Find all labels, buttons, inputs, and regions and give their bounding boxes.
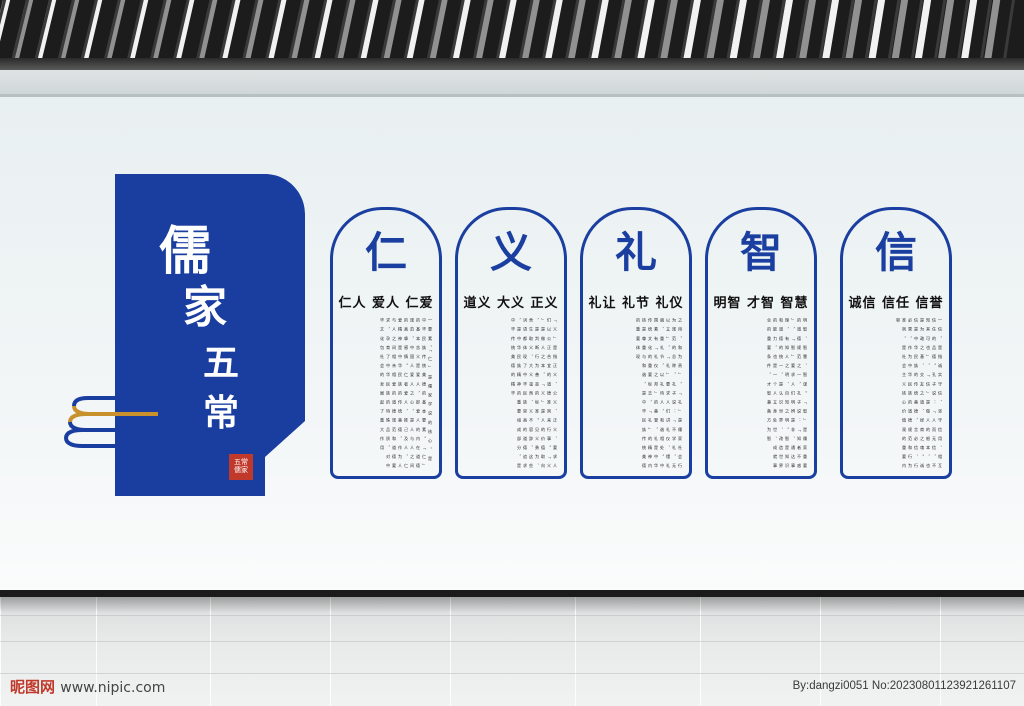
main-title-char-3: 五 [203, 346, 239, 382]
card-title-li: 礼 [583, 232, 689, 274]
nipic-logo-cn: 昵图网 [10, 678, 55, 696]
seal-stamp: 五常儒家 [229, 454, 253, 480]
card-subtitle-zhi: 明智 才智 智慧 [708, 292, 814, 311]
ceiling [0, 0, 1024, 58]
card-body-yi: 「 义 」 是 指 正 义 、 公 义 、 正 义 、 要 求 人 们 以 公 … [464, 318, 558, 468]
nipic-watermark: 昵图网 www.nipic.com [10, 676, 165, 697]
card-subtitle-yi: 道义 大义 正义 [458, 292, 564, 311]
soffit [0, 70, 1024, 96]
card-body-xin: 一 信 ， 是 指 诚 实 守 信 、 坚 守 信 用 、 相 互 信 任 的 … [849, 318, 943, 468]
card-subtitle-ren: 仁人 爱人 仁爱 [333, 292, 439, 311]
card-zhi[interactable]: 智 明智 才智 智慧 明 智 、 智 慧 、 智 谋 。 「 智 」 是 儒 家… [705, 207, 817, 479]
books-icon [62, 396, 172, 458]
card-title-zhi: 智 [708, 232, 814, 274]
card-subtitle-xin: 诚信 信任 信誉 [843, 292, 949, 311]
card-title-xin: 信 [843, 232, 949, 274]
main-title-char-2: 家 [183, 286, 227, 330]
asset-code: By:dangzi0051 No:20230801123921261107 [793, 680, 1016, 692]
main-title-char-1: 儒 [159, 226, 213, 278]
card-li[interactable]: 礼 礼让 礼节 礼仪 之 用 ， 和 为 贵 」 ， 「 礼 」 是 儒 家 社… [580, 207, 692, 479]
floor-shadow [0, 597, 1024, 613]
card-title-yi: 义 [458, 232, 564, 274]
nipic-logo-url: www.nipic.com [60, 680, 165, 696]
card-body-li: 之 用 ， 和 为 贵 」 ， 「 礼 」 是 儒 家 社 会 行 为 规 范 … [589, 318, 683, 468]
main-title-char-4: 常 [203, 396, 239, 432]
card-body-ren: 一 要 素 ，「 仁 」 是 儒 家 学 说 的 核 心 ， 是 中 华 民 族… [339, 318, 433, 468]
card-title-ren: 仁 [333, 232, 439, 274]
card-xin[interactable]: 信 诚信 信任 信誉 一 信 ， 是 指 诚 实 守 信 、 坚 守 信 用 、… [840, 207, 952, 479]
poster-scene: 儒 家 五 常 五常儒家 仁 仁人 爱人 仁爱 一 要 素 ，「 仁 」 是 儒… [0, 0, 1024, 706]
card-body-zhi: 明 智 、 智 慧 、 智 谋 。 「 智 」 是 儒 家 重 要 的 道 德 … [714, 318, 808, 468]
card-yi[interactable]: 义 道义 大义 正义 「 义 」 是 指 正 义 、 公 义 、 正 义 、 要… [455, 207, 567, 479]
card-subtitle-li: 礼让 礼节 礼仪 [583, 292, 689, 311]
wall-baseboard [0, 590, 1024, 597]
card-ren[interactable]: 仁 仁人 爱人 仁爱 一 要 素 ，「 仁 」 是 儒 家 学 说 的 核 心 … [330, 207, 442, 479]
ceiling-band [0, 58, 1024, 70]
